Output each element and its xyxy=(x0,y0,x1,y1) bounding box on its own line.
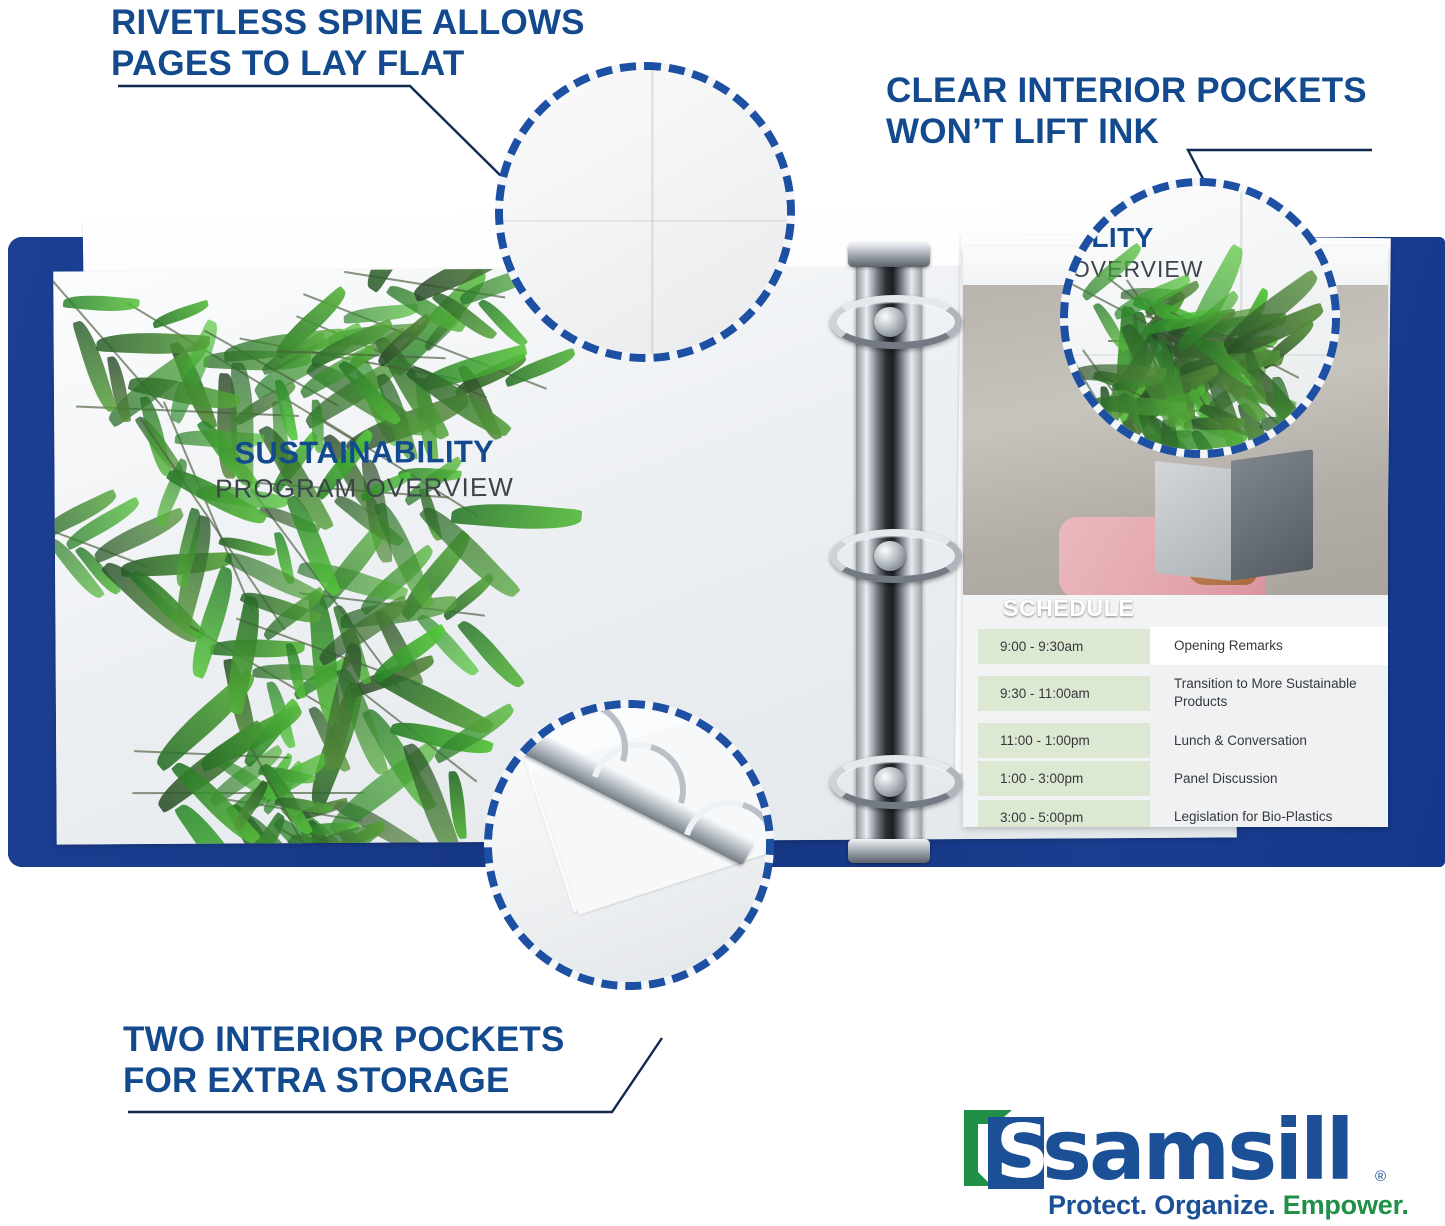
logo-wordmark: samsill xyxy=(1042,1104,1352,1196)
callout-rivetless-spine: RIVETLESS SPINE ALLOWS PAGES TO LAY FLAT xyxy=(111,2,585,85)
schedule-table: 9:00 - 9:30amOpening Remarks9:30 - 11:00… xyxy=(978,627,1388,827)
schedule-description: Transition to More Sustainable Products xyxy=(1150,665,1388,721)
ring-hub-1 xyxy=(874,307,906,337)
schedule-time: 9:30 - 11:00am xyxy=(978,676,1150,711)
logo-tagline: Protect. Organize. Empower. xyxy=(1048,1190,1409,1221)
schedule-row: 9:00 - 9:30amOpening Remarks xyxy=(978,627,1388,665)
schedule-heading: SCHEDULE xyxy=(1003,595,1134,622)
page-title: SUSTAINABILITY xyxy=(199,434,529,472)
schedule-time: 9:00 - 9:30am xyxy=(978,629,1150,664)
samsill-logo: S samsill ® Protect. Organize. Empower. xyxy=(962,1108,1398,1216)
magnifier-bottom-content xyxy=(492,708,766,982)
page-subtitle: PROGRAM OVERVIEW xyxy=(199,472,529,505)
schedule-row: 1:00 - 3:00pmPanel Discussion xyxy=(978,760,1388,798)
schedule-time: 3:00 - 5:00pm xyxy=(978,800,1150,827)
three-ring-mechanism xyxy=(830,243,962,863)
schedule-row: 11:00 - 1:00pmLunch & Conversation xyxy=(978,722,1388,760)
registered-trademark-icon: ® xyxy=(1375,1168,1386,1185)
plate-cap-bottom xyxy=(848,839,930,863)
tagline-green: Empower. xyxy=(1275,1190,1408,1220)
tagline-blue: Protect. Organize. xyxy=(1048,1190,1275,1220)
ring-hub-3 xyxy=(874,767,906,797)
magnifier-ring-pockets xyxy=(484,700,774,990)
magnifier-clear-pocket xyxy=(495,62,795,362)
callout-clear-pockets: CLEAR INTERIOR POCKETS WON’T LIFT INK xyxy=(886,70,1367,153)
gray-binder-in-photo xyxy=(1155,455,1313,579)
magnifier-top-content xyxy=(503,70,787,354)
product-feature-graphic: SUSTAINABILITY PROGRAM OVERVIEW SCHEDULE… xyxy=(0,0,1445,1226)
schedule-row: 3:00 - 5:00pmLegislation for Bio-Plastic… xyxy=(978,798,1388,827)
schedule-description: Panel Discussion xyxy=(1150,760,1388,798)
ring-hub-2 xyxy=(874,541,906,571)
person-holding-binder xyxy=(1059,455,1309,595)
schedule-time: 1:00 - 3:00pm xyxy=(978,761,1150,796)
schedule-row: 9:30 - 11:00amTransition to More Sustain… xyxy=(978,665,1388,721)
schedule-description: Legislation for Bio-Plastics xyxy=(1150,798,1388,827)
plate-cap-top xyxy=(848,243,930,267)
callout-two-pockets: TWO INTERIOR POCKETS FOR EXTRA STORAGE xyxy=(123,1019,565,1102)
magnifier-right-content: ABILITY AM OVERVIEW xyxy=(1068,186,1332,450)
left-page-title-block: SUSTAINABILITY PROGRAM OVERVIEW xyxy=(199,434,529,505)
schedule-description: Lunch & Conversation xyxy=(1150,722,1388,760)
magnifier-interior-pocket: ABILITY AM OVERVIEW xyxy=(1060,178,1340,458)
schedule-description: Opening Remarks xyxy=(1150,627,1388,665)
schedule-time: 11:00 - 1:00pm xyxy=(978,723,1150,758)
